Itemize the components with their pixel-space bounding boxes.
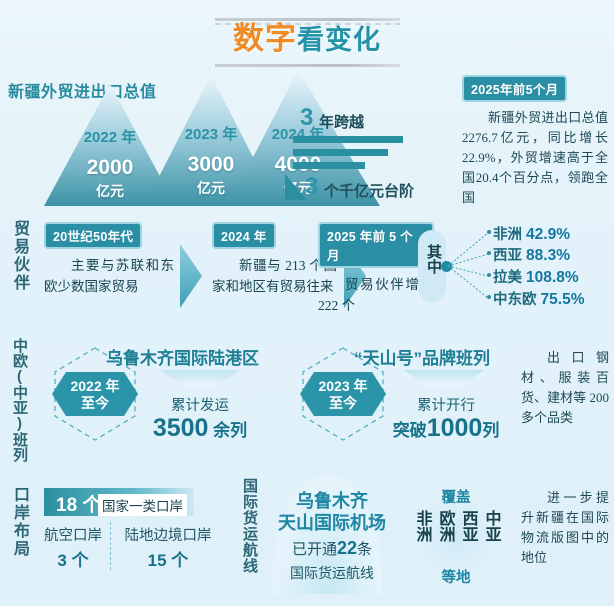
callout-tag: 2025年前5个月 [462,75,567,102]
infographic-page: 数字看变化 新疆外贸进出口总值 2022 年 2000 亿元 [0,0,614,606]
ports-note: 进一步提升新疆在国际物流版图中的地位 [521,488,609,568]
bullet-dot-1-icon [487,230,491,234]
stair-bar-2 [293,149,388,156]
partner-cell-3-tag: 2025 年前 5 个月 [318,222,434,268]
callout-text: 新疆外贸进出口总值2276.7亿元，同比增长22.9%，外贸增速高于全国20.4… [462,108,608,208]
airport-name-line-1: 乌鲁木齐 [272,490,392,512]
bullet-dot-4-icon [487,295,491,299]
cross-years-number: 3 [300,104,313,132]
bullet-region-2-name: 西亚 [493,248,522,264]
title-part-1: 数字 [233,21,297,56]
port-2-name: 陆地边境口岸 [116,524,220,545]
hex-2-line-2: 至今 [300,395,386,412]
airport-routes-pre: 已开通 [292,541,337,558]
bullet-region-2-value: 88.3% [526,247,570,264]
coverage-region-1: 非洲 [413,510,431,542]
rail-big-1: 3500 余列 [138,414,262,443]
bullet-region-4-value: 75.5% [541,291,585,308]
rail-note: 出口钢材、服装百货、建材等 200 多个品类 [521,348,609,428]
bullet-dot-3-icon [487,273,491,277]
cross-years-label: 年跨越 [319,111,364,132]
rail-title-1: 乌鲁木齐国际陆港区 [106,344,259,369]
rail-big-1-post: 余列 [213,421,247,440]
partner-cell-3: 2025 年前 5 个月 贸易伙伴增至 222 个 [318,222,434,316]
bullet-region-3-value: 108.8% [526,269,579,286]
ports-divider [110,522,111,570]
zhongqi-label: 其中 [425,244,442,274]
coverage-regions: 非洲 欧洲 西亚 中亚 [396,510,516,542]
ports-total-value: 18 个 [56,490,101,517]
airport-routes-sub: 国际货运航线 [272,563,392,583]
rail-big-1-num: 3500 [153,414,209,442]
partner-cell-1-tag: 20世纪50年代 [44,222,142,249]
rail-big-2-pre: 突破 [393,421,427,440]
partner-cell-1: 20世纪50年代 主要与苏联和东欧少数国家贸易 [44,222,174,297]
section-trade-total: 新疆外贸进出口总值 2022 年 2000 亿元 2023 年 3000 [0,72,614,212]
bullet-region-4-name: 中东欧 [493,292,537,308]
port-1-name: 航空口岸 [40,524,106,545]
airport-routes-open: 已开通22条 [272,538,392,559]
rail-sub-2: 累计开行 [390,394,502,415]
port-2-count: 15 个 [116,546,220,571]
bullet-region-1-value: 42.9% [526,226,570,243]
stair-bar-1 [293,136,403,143]
row-label-ports: 口岸布局 [10,486,29,558]
airport-routes-num: 22 [337,538,357,558]
bullet-region-1-name: 非洲 [493,227,522,243]
funnel-2-icon [404,370,484,386]
row-label-rail: 中欧(中亚)班列 [10,338,29,462]
section-trade-partners: 贸易伙伴 20世纪50年代 主要与苏联和东欧少数国家贸易 2024 年 新疆与 … [0,214,614,330]
bullet-region-1: 非洲 42.9% [493,223,570,244]
coverage-region-3: 西亚 [459,510,477,542]
row-label-air-routes: 国际货运航线 [240,478,259,574]
rail-big-2-num: 1000 [427,414,483,442]
header: 数字看变化 [0,6,614,70]
bullet-region-3: 拉美 108.8% [493,266,579,287]
airport-name-line-2: 天山国际机场 [266,512,398,534]
stair-bar-3 [293,162,365,169]
funnel-1-icon [160,370,240,386]
row-label-partners: 贸易伙伴 [10,220,29,292]
airport-routes-post: 条 [357,541,372,558]
bullet-region-3-name: 拉美 [493,270,522,286]
title-part-2: 看变化 [297,25,381,55]
rail-title-2: “天山号”品牌班列 [354,344,490,369]
rail-big-2: 突破1000列 [380,414,512,443]
page-title: 数字看变化 [207,8,407,68]
hex-2-line-1: 2023 年 [300,378,386,395]
rail-big-2-post: 列 [482,421,499,440]
coverage-region-2: 欧洲 [436,510,454,542]
callout-2025: 2025年前5个月 新疆外贸进出口总值2276.7亿元，同比增长22.9%，外贸… [462,75,608,208]
cross-steps-number: 3 [305,173,318,201]
hex-1-line-2: 至今 [52,395,138,412]
section-ports: 口岸布局 18 个 国家一类口岸 航空口岸 3 个 陆地边境口岸 15 个 国际… [0,470,614,606]
ports-total-label: 国家一类口岸 [98,494,187,516]
cross-steps-label: 个千亿元台阶 [324,180,414,201]
hex-1-line-1: 2022 年 [52,378,138,395]
rail-sub-1: 累计发运 [144,394,256,415]
bullet-region-2: 西亚 88.3% [493,244,570,265]
coverage-region-4: 中亚 [482,510,500,542]
partner-cell-3-text: 贸易伙伴增至 222 个 [318,274,434,316]
bullet-dot-2-icon [487,251,491,255]
coverage-top-label: 覆盖 [396,486,516,507]
section-rail: 中欧(中亚)班列 2022 年 至今 乌鲁木齐国际陆港区 累计发运 3500 余… [0,332,614,468]
arrow-chevron-1-icon [180,244,202,308]
port-1-count: 3 个 [40,546,106,571]
partner-cell-2-tag: 2024 年 [212,222,276,249]
partner-cell-1-text: 主要与苏联和东欧少数国家贸易 [44,255,174,297]
coverage-bottom-label: 等地 [396,566,516,587]
bullet-region-4: 中东欧 75.5% [493,288,584,309]
